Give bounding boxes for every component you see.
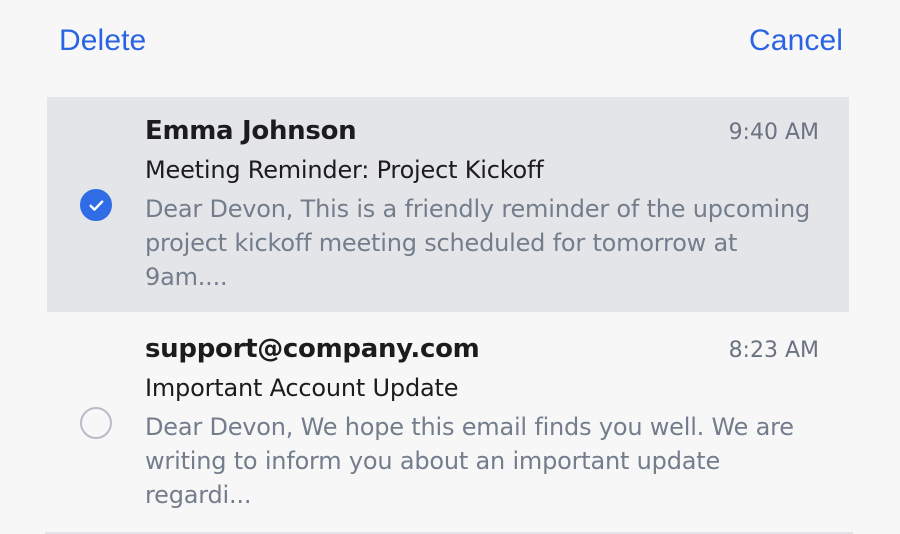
message-list: Emma Johnson 9:40 AM Meeting Reminder: P… bbox=[0, 97, 900, 534]
message-content-0: Emma Johnson 9:40 AM Meeting Reminder: P… bbox=[145, 116, 849, 294]
message-header-1: support@company.com 8:23 AM bbox=[145, 334, 819, 365]
message-content-1: support@company.com 8:23 AM Important Ac… bbox=[145, 334, 849, 512]
message-sender: Emma Johnson bbox=[145, 116, 356, 147]
message-time: 9:40 AM bbox=[729, 120, 819, 146]
check-circle-filled-icon[interactable] bbox=[80, 189, 112, 221]
selection-cell-1 bbox=[47, 407, 145, 439]
message-preview: Dear Devon, This is a friendly reminder … bbox=[145, 192, 819, 294]
message-sender: support@company.com bbox=[145, 334, 479, 365]
cancel-button[interactable]: Cancel bbox=[749, 26, 843, 56]
message-row-0[interactable]: Emma Johnson 9:40 AM Meeting Reminder: P… bbox=[47, 97, 849, 312]
selection-toolbar: Delete Cancel bbox=[0, 0, 900, 82]
message-time: 8:23 AM bbox=[729, 338, 819, 364]
selection-cell-0 bbox=[47, 189, 145, 221]
message-row-1[interactable]: support@company.com 8:23 AM Important Ac… bbox=[47, 312, 849, 532]
message-header-0: Emma Johnson 9:40 AM bbox=[145, 116, 819, 147]
message-subject: Meeting Reminder: Project Kickoff bbox=[145, 156, 819, 185]
delete-button[interactable]: Delete bbox=[59, 26, 146, 56]
message-subject: Important Account Update bbox=[145, 374, 819, 403]
circle-outline-icon[interactable] bbox=[80, 407, 112, 439]
mail-edit-screen: Delete Cancel Emma Johnson 9:40 AM bbox=[0, 0, 900, 526]
message-preview: Dear Devon, We hope this email finds you… bbox=[145, 410, 819, 512]
